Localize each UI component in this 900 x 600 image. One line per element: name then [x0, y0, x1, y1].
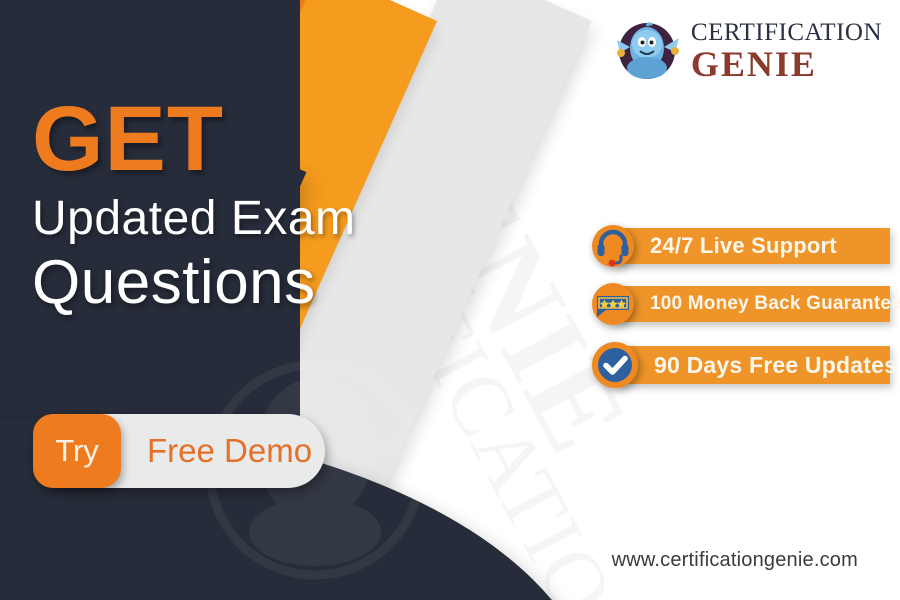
check-circle-icon: [590, 340, 640, 390]
try-free-demo-button[interactable]: Try Free Demo: [33, 414, 312, 488]
genie-lamp-character-icon: [613, 20, 685, 82]
promo-banner: CERTIFICATION GENIE GET Updated Exam Que…: [0, 0, 900, 600]
headline-group: GET Updated Exam Questions: [32, 96, 356, 317]
brand-logo[interactable]: CERTIFICATION GENIE: [613, 20, 882, 82]
website-url[interactable]: www.certificationgenie.com: [612, 549, 858, 572]
award-ribbon-stars-icon: [590, 281, 636, 327]
demo-try-tag[interactable]: Try: [33, 414, 121, 488]
logo-wordmark: CERTIFICATION GENIE: [691, 20, 882, 82]
logo-text-genie: GENIE: [691, 46, 882, 82]
feature-badge-list: 24/7 Live Support 100 Money Back Guarant…: [590, 224, 890, 404]
feature-label: 24/7 Live Support: [650, 233, 837, 259]
headset-icon: [590, 223, 636, 269]
feature-badge-guarantee[interactable]: 100 Money Back Guarantee: [590, 282, 890, 326]
feature-label: 100 Money Back Guarantee: [650, 293, 900, 315]
headline-get: GET: [32, 96, 356, 183]
feature-badge-updates[interactable]: 90 Days Free Updates: [590, 340, 890, 390]
headline-subtitle: Updated Exam: [32, 191, 356, 246]
headline-questions: Questions: [32, 249, 356, 317]
demo-free-label[interactable]: Free Demo: [121, 414, 312, 488]
feature-badge-support[interactable]: 24/7 Live Support: [590, 224, 890, 268]
logo-text-certification: CERTIFICATION: [691, 20, 882, 45]
feature-label: 90 Days Free Updates: [654, 352, 897, 379]
